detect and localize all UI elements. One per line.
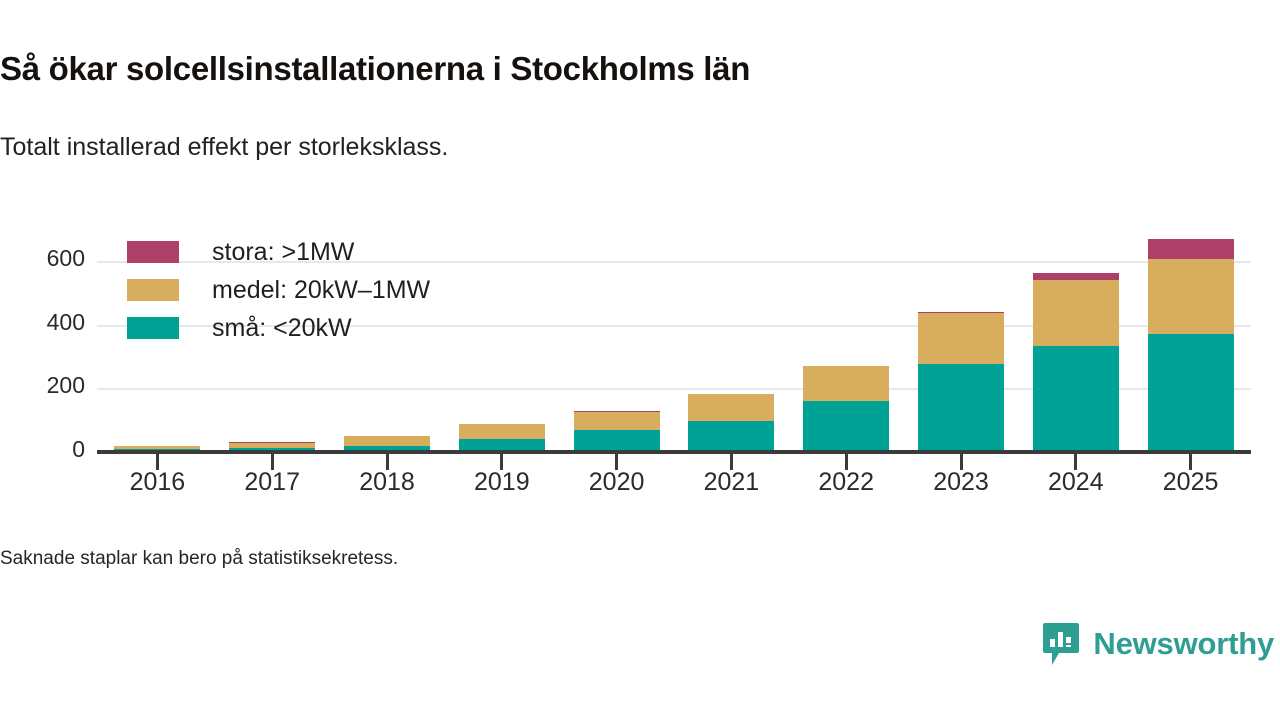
bar-chart-bubble-icon <box>1042 622 1080 666</box>
bar-segment[interactable] <box>344 436 430 446</box>
x-axis-tick-label: 2023 <box>901 468 1021 497</box>
bar-segment[interactable] <box>459 424 545 439</box>
bar-segment[interactable] <box>1148 239 1234 258</box>
bar-segment[interactable] <box>1148 334 1234 452</box>
brand-wordmark: Newsworthy <box>1093 626 1274 662</box>
x-axis-tick-label: 2018 <box>327 468 447 497</box>
legend-item-label: medel: 20kW–1MW <box>212 276 430 305</box>
x-axis-tick-label: 2016 <box>97 468 217 497</box>
legend-swatch <box>127 279 179 301</box>
bar-segment[interactable] <box>1033 280 1119 346</box>
chart-legend: stora: >1MWmedel: 20kW–1MWsmå: <20kW <box>127 233 430 347</box>
bar-group-2020[interactable] <box>574 411 660 452</box>
legend-swatch <box>127 317 179 339</box>
legend-item[interactable]: stora: >1MW <box>127 233 430 271</box>
bar-group-2024[interactable] <box>1033 273 1119 452</box>
bar-segment[interactable] <box>229 442 315 443</box>
bar-segment[interactable] <box>918 364 1004 452</box>
bar-segment[interactable] <box>918 312 1004 313</box>
x-axis-tick-label: 2022 <box>786 468 906 497</box>
legend-swatch <box>127 241 179 263</box>
bar-segment[interactable] <box>803 366 889 401</box>
legend-item-label: stora: >1MW <box>212 238 354 267</box>
newsworthy-logo[interactable]: Newsworthy <box>1042 622 1274 666</box>
bar-group-2023[interactable] <box>918 312 1004 452</box>
bar-series-layer <box>0 0 1280 720</box>
bar-segment[interactable] <box>114 446 200 449</box>
x-axis-tick-label: 2021 <box>671 468 791 497</box>
bar-segment[interactable] <box>1033 273 1119 280</box>
chart-plot-area: 6004002000 20162017201820192020202120222… <box>0 0 1280 720</box>
bar-segment[interactable] <box>574 412 660 430</box>
bar-segment[interactable] <box>688 394 774 421</box>
chart-footnote: Saknade staplar kan bero på statistiksek… <box>0 548 398 570</box>
bar-group-2025[interactable] <box>1148 239 1234 452</box>
bar-group-2021[interactable] <box>688 394 774 452</box>
bar-segment[interactable] <box>918 313 1004 364</box>
bar-segment[interactable] <box>229 442 315 447</box>
bar-segment[interactable] <box>803 401 889 452</box>
x-axis-tick-label: 2017 <box>212 468 332 497</box>
bar-segment[interactable] <box>688 421 774 452</box>
bar-group-2022[interactable] <box>803 366 889 452</box>
bar-segment[interactable] <box>574 430 660 452</box>
x-axis-tick-label: 2024 <box>1016 468 1136 497</box>
x-axis-tick-label: 2025 <box>1131 468 1251 497</box>
x-axis-tick-label: 2020 <box>557 468 677 497</box>
x-axis-tick-label: 2019 <box>442 468 562 497</box>
bar-segment[interactable] <box>1033 346 1119 452</box>
legend-item[interactable]: små: <20kW <box>127 309 430 347</box>
bar-segment[interactable] <box>574 411 660 412</box>
bar-group-2019[interactable] <box>459 424 545 452</box>
bar-segment[interactable] <box>1148 259 1234 334</box>
legend-item-label: små: <20kW <box>212 314 352 343</box>
legend-item[interactable]: medel: 20kW–1MW <box>127 271 430 309</box>
